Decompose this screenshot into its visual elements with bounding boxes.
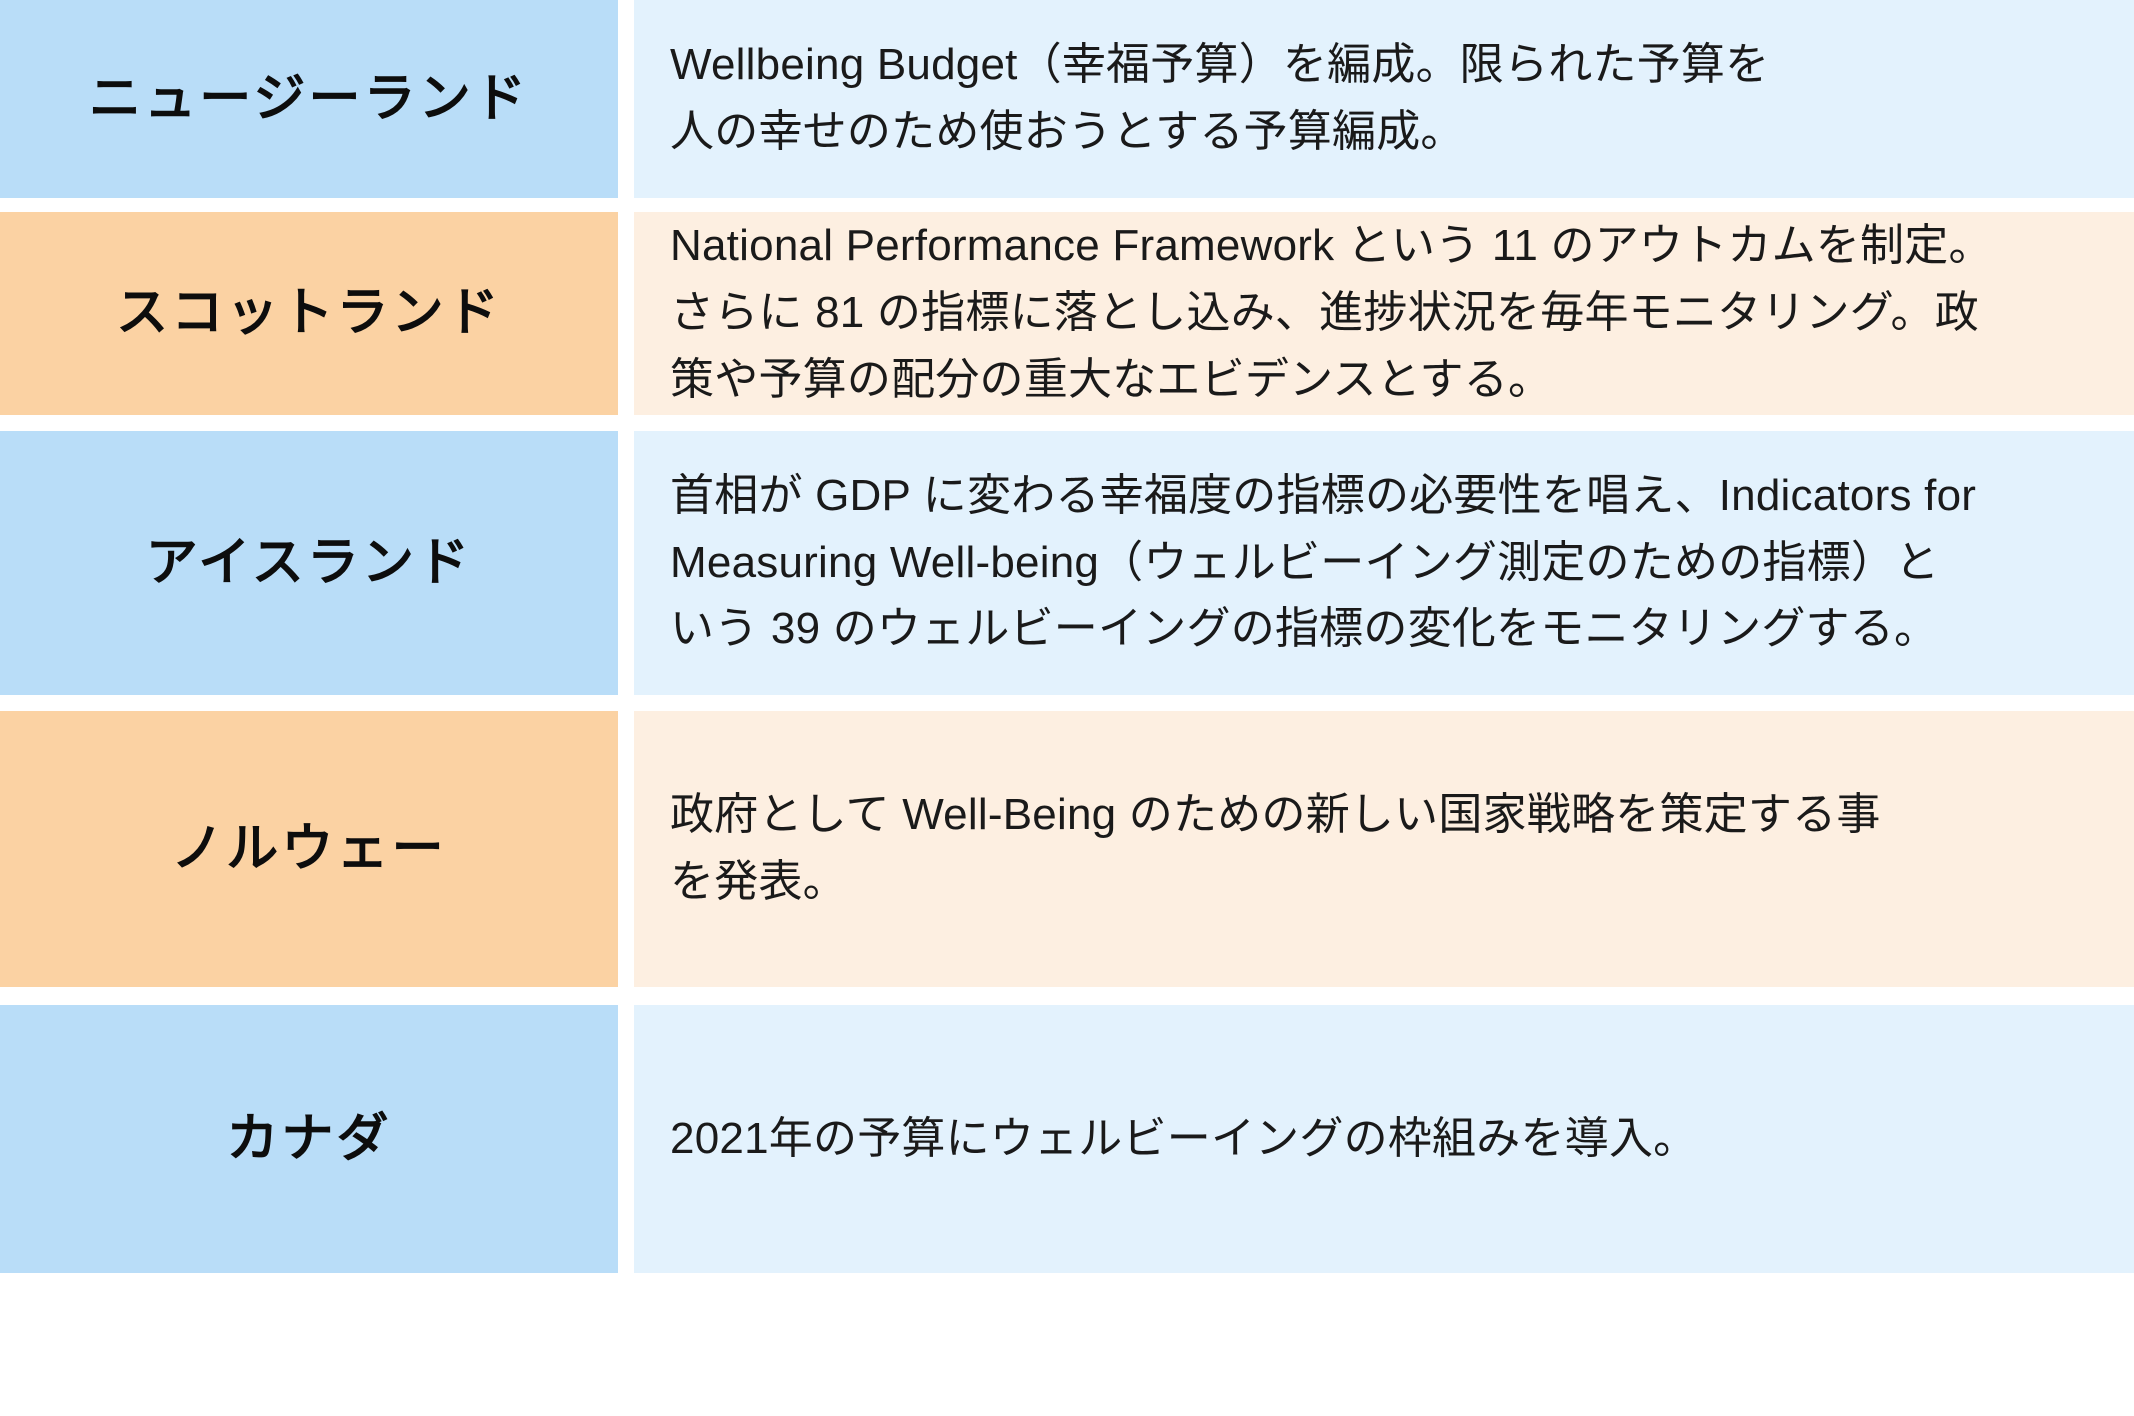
column-gutter xyxy=(618,0,634,198)
table-cell-country: スコットランド xyxy=(0,212,618,415)
description-text: Wellbeing Budget（幸福予算）を編成。限られた予算を 人の幸せのた… xyxy=(670,32,1769,166)
description-text: National Performance Framework という 11 のア… xyxy=(670,213,1993,414)
column-gutter xyxy=(618,212,634,415)
table-row: ニュージーランド Wellbeing Budget（幸福予算）を編成。限られた予… xyxy=(0,0,2134,198)
country-name-label: ノルウェー xyxy=(171,817,447,882)
table-cell-description: Wellbeing Budget（幸福予算）を編成。限られた予算を 人の幸せのた… xyxy=(634,0,2134,198)
column-gutter xyxy=(618,431,634,695)
country-name-label: カナダ xyxy=(226,1107,391,1172)
row-gutter xyxy=(0,415,2134,431)
column-gutter xyxy=(618,711,634,987)
table-cell-country: カナダ xyxy=(0,1005,618,1273)
table-row: スコットランド National Performance Framework と… xyxy=(0,212,2134,415)
table-cell-description: 政府として Well-Being のための新しい国家戦略を策定する事 を発表。 xyxy=(634,711,2134,987)
table-cell-description: 2021年の予算にウェルビーイングの枠組みを導入。 xyxy=(634,1005,2134,1273)
table-row: ノルウェー 政府として Well-Being のための新しい国家戦略を策定する事… xyxy=(0,711,2134,987)
row-gutter xyxy=(0,987,2134,1005)
table-cell-description: 首相が GDP に変わる幸福度の指標の必要性を唱え、Indicators for… xyxy=(634,431,2134,695)
description-text: 首相が GDP に変わる幸福度の指標の必要性を唱え、Indicators for… xyxy=(670,463,1976,664)
table-row: カナダ 2021年の予算にウェルビーイングの枠組みを導入。 xyxy=(0,1005,2134,1273)
description-text: 政府として Well-Being のための新しい国家戦略を策定する事 を発表。 xyxy=(670,782,1881,916)
table-row: アイスランド 首相が GDP に変わる幸福度の指標の必要性を唱え、Indicat… xyxy=(0,431,2134,695)
table-cell-country: ニュージーランド xyxy=(0,0,618,198)
table-cell-description: National Performance Framework という 11 のア… xyxy=(634,212,2134,415)
country-name-label: スコットランド xyxy=(116,281,502,346)
country-initiatives-table: ニュージーランド Wellbeing Budget（幸福予算）を編成。限られた予… xyxy=(0,0,2134,1416)
column-gutter xyxy=(618,1005,634,1273)
row-gutter xyxy=(0,695,2134,711)
country-name-label: ニュージーランド xyxy=(89,67,529,132)
row-gutter xyxy=(0,198,2134,212)
table-cell-country: ノルウェー xyxy=(0,711,618,987)
description-text: 2021年の予算にウェルビーイングの枠組みを導入。 xyxy=(670,1106,1697,1173)
table-cell-country: アイスランド xyxy=(0,431,618,695)
country-name-label: アイスランド xyxy=(146,531,473,596)
